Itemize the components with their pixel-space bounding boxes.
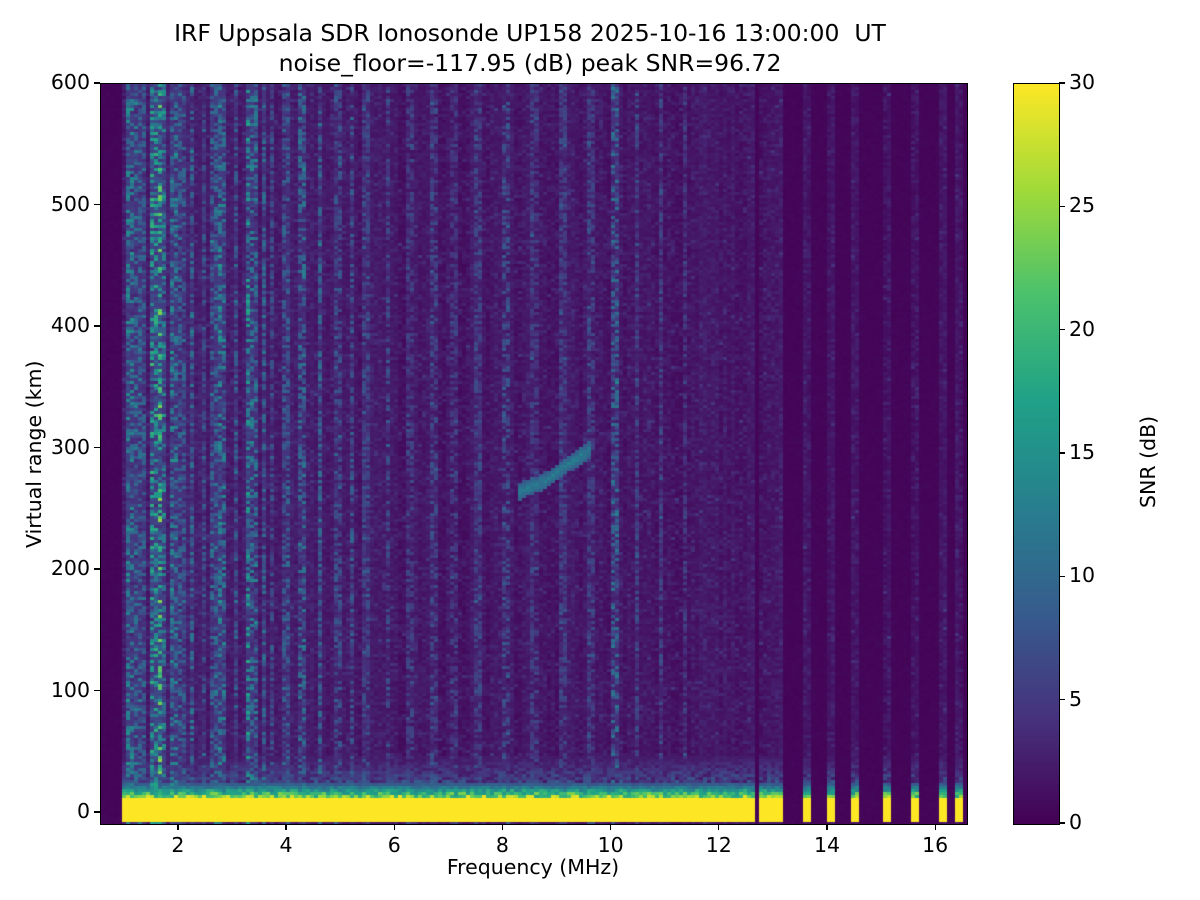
colorbar-tick-label: 5 <box>1069 689 1082 709</box>
x-tick-label: 16 <box>905 834 965 856</box>
y-tick-label: 200 <box>35 558 90 578</box>
x-tick-label: 14 <box>797 834 857 856</box>
snr-colorbar <box>1013 83 1060 825</box>
y-tick-label: 600 <box>35 72 90 92</box>
colorbar-gradient <box>1014 84 1059 824</box>
ionogram-axes <box>100 83 968 825</box>
colorbar-tick-mark <box>1059 329 1065 330</box>
y-tick-mark <box>94 568 100 569</box>
x-tick-label: 4 <box>256 834 316 856</box>
y-tick-label: 0 <box>35 801 90 821</box>
colorbar-tick-mark <box>1059 576 1065 577</box>
x-tick-mark <box>826 824 827 830</box>
x-tick-label: 12 <box>689 834 749 856</box>
colorbar-tick-label: 10 <box>1069 565 1095 585</box>
figure-title: IRF Uppsala SDR Ionosonde UP158 2025-10-… <box>0 18 1060 78</box>
x-tick-label: 8 <box>472 834 532 856</box>
y-tick-mark <box>94 325 100 326</box>
colorbar-tick-mark <box>1059 699 1065 700</box>
y-tick-mark <box>94 447 100 448</box>
colorbar-tick-label: 25 <box>1069 195 1095 215</box>
x-tick-mark <box>610 824 611 830</box>
colorbar-tick-label: 20 <box>1069 319 1095 339</box>
x-tick-mark <box>285 824 286 830</box>
colorbar-tick-mark <box>1059 822 1065 823</box>
x-axis-label: Frequency (MHz) <box>100 855 966 879</box>
ionogram-figure: IRF Uppsala SDR Ionosonde UP158 2025-10-… <box>0 0 1200 900</box>
y-tick-label: 400 <box>35 315 90 335</box>
y-tick-mark <box>94 204 100 205</box>
x-tick-mark <box>177 824 178 830</box>
x-tick-label: 2 <box>148 834 208 856</box>
x-tick-mark <box>502 824 503 830</box>
y-tick-label: 500 <box>35 194 90 214</box>
x-tick-label: 6 <box>364 834 424 856</box>
colorbar-tick-mark <box>1059 206 1065 207</box>
x-tick-label: 10 <box>581 834 641 856</box>
y-tick-mark <box>94 82 100 83</box>
y-axis-label: Virtual range (km) <box>22 361 46 548</box>
colorbar-tick-mark <box>1059 452 1065 453</box>
x-tick-mark <box>394 824 395 830</box>
colorbar-label: SNR (dB) <box>1136 416 1160 508</box>
y-tick-label: 100 <box>35 680 90 700</box>
x-tick-mark <box>935 824 936 830</box>
title-line-2: noise_floor=-117.95 (dB) peak SNR=96.72 <box>0 48 1060 78</box>
x-tick-mark <box>718 824 719 830</box>
y-tick-mark <box>94 811 100 812</box>
y-tick-mark <box>94 690 100 691</box>
colorbar-tick-label: 30 <box>1069 72 1095 92</box>
colorbar-tick-mark <box>1059 82 1065 83</box>
colorbar-tick-label: 15 <box>1069 442 1095 462</box>
ionogram-heatmap <box>101 84 967 824</box>
colorbar-tick-label: 0 <box>1069 812 1082 832</box>
title-line-1: IRF Uppsala SDR Ionosonde UP158 2025-10-… <box>0 18 1060 48</box>
